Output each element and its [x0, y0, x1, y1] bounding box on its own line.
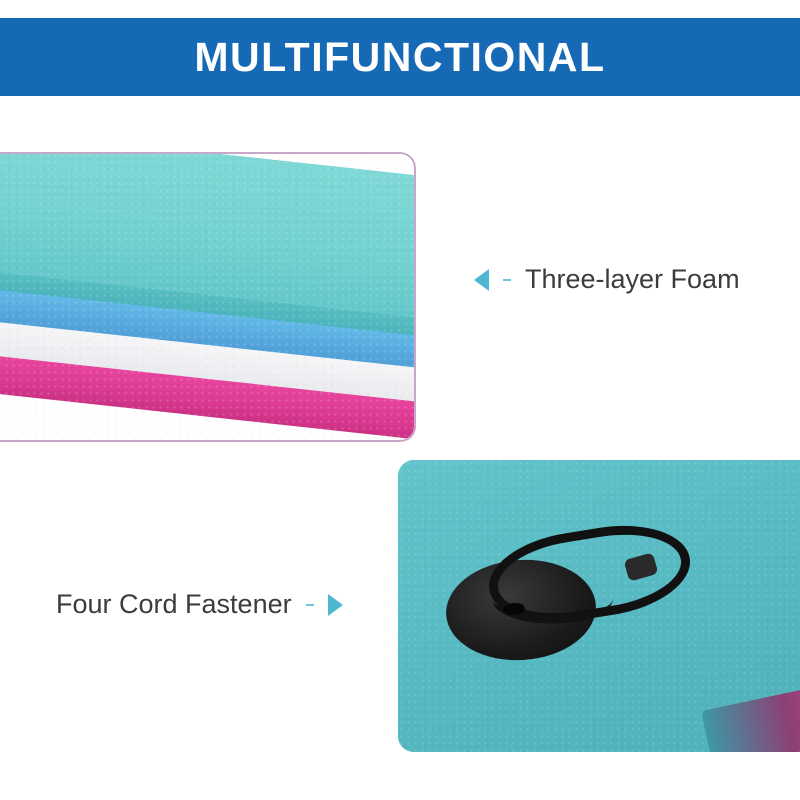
banner-title: MULTIFUNCTIONAL: [194, 34, 605, 81]
callout-four-cord-fastener: Four Cord Fastener: [56, 589, 343, 620]
callout-label-four-cord-fastener: Four Cord Fastener: [56, 589, 292, 620]
foam-layers-photo: [0, 152, 416, 442]
arrow-right-icon: [328, 594, 343, 616]
callout-line: [306, 604, 314, 606]
callout-three-layer-foam: Three-layer Foam: [474, 264, 740, 295]
cord-fastener-photo: [398, 460, 800, 752]
header-banner: MULTIFUNCTIONAL: [0, 18, 800, 96]
arrow-left-icon: [474, 269, 489, 291]
callout-line: [503, 279, 511, 281]
foam-layers-image: [0, 152, 416, 442]
callout-label-three-layer-foam: Three-layer Foam: [525, 264, 740, 295]
product-feature-graphic: MULTIFUNCTIONAL Three-layer Foam Four Co…: [0, 0, 800, 800]
